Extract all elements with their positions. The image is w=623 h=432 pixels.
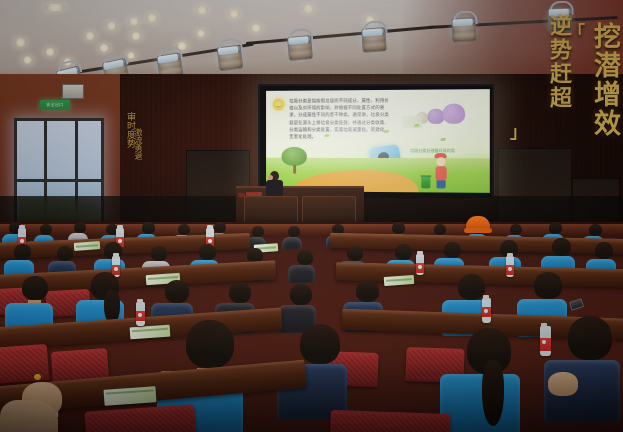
person-head bbox=[288, 226, 300, 237]
downlight-icon bbox=[250, 24, 262, 32]
projection-screen: 垃圾分类是指按照垃圾的不同成分、属性、利用价值以及对环境的影响，并根据不同处置方… bbox=[258, 84, 494, 198]
downlight-icon bbox=[130, 32, 142, 40]
pamphlet-stripe bbox=[132, 328, 168, 333]
downlight-icon bbox=[14, 38, 27, 47]
person-head bbox=[458, 274, 485, 300]
green-bin-icon bbox=[421, 177, 430, 188]
stage-spotlight-icon bbox=[451, 17, 476, 42]
person-head bbox=[229, 282, 251, 303]
slide-body-text: 垃圾分类是指按照垃圾的不同成分、属性、利用价值以及对环境的影响，并根据不同处置方… bbox=[289, 97, 392, 140]
downlight-icon bbox=[302, 4, 315, 13]
bottle-cap bbox=[113, 253, 119, 257]
water-bottle[interactable] bbox=[416, 254, 424, 275]
person-head bbox=[356, 280, 379, 302]
podium-item bbox=[238, 193, 245, 197]
person-uniform-shirt bbox=[440, 374, 520, 432]
person-uniform-shirt bbox=[282, 237, 302, 250]
person-head bbox=[165, 280, 189, 303]
podium-panel bbox=[244, 196, 298, 224]
spotlight-lens bbox=[452, 19, 472, 27]
person-head bbox=[552, 238, 571, 256]
spotlight-lens bbox=[218, 46, 239, 55]
person-head bbox=[74, 222, 86, 233]
child-head bbox=[436, 157, 445, 166]
person-head bbox=[347, 246, 363, 261]
child-legs bbox=[436, 180, 445, 188]
child-figure-icon bbox=[434, 153, 446, 188]
audience-member bbox=[560, 316, 620, 422]
bottle-label bbox=[136, 311, 145, 321]
water-bottle[interactable] bbox=[540, 326, 551, 356]
tree-crown bbox=[282, 147, 307, 166]
exit-sign: 安全出口 bbox=[40, 100, 70, 110]
downlight-icon bbox=[84, 32, 96, 40]
audience-hand bbox=[548, 372, 578, 396]
left-wall-slogan-secondary: 激流勇退 bbox=[104, 104, 144, 184]
audience-desk bbox=[330, 233, 623, 254]
pamphlet-stripe bbox=[76, 244, 98, 248]
sun-icon bbox=[273, 99, 285, 111]
conference-hall-photo: 安全出口 审时度势 激流勇退 「 挖潜增效 逆势赶超 」 垃圾分类是指按照垃圾的… bbox=[0, 0, 623, 432]
wall-slogan-primary: 挖潜增效 bbox=[590, 22, 619, 138]
person-head bbox=[186, 320, 234, 368]
downlight-icon bbox=[196, 30, 206, 37]
tree-icon bbox=[282, 147, 307, 174]
leaf-icon bbox=[414, 124, 419, 127]
stage-spotlight-icon bbox=[217, 45, 244, 72]
person-head bbox=[589, 224, 602, 236]
ponytail bbox=[482, 360, 504, 426]
trash-bag-icon bbox=[443, 103, 466, 123]
downlight-icon bbox=[106, 22, 117, 30]
water-bottle[interactable] bbox=[506, 256, 514, 277]
tree-trunk bbox=[293, 165, 296, 174]
downlight-icon bbox=[196, 6, 208, 14]
bottle-cap bbox=[137, 299, 143, 303]
person-head bbox=[252, 226, 264, 237]
downlight-icon bbox=[126, 52, 136, 59]
pamphlet-stripe bbox=[106, 389, 154, 394]
wall-slogan-secondary: 逆势赶超 bbox=[547, 14, 571, 110]
safety-helmet[interactable] bbox=[466, 216, 490, 231]
left-wall-slogan-line2: 激流勇退 bbox=[133, 128, 144, 160]
stage-spotlight-icon bbox=[287, 35, 313, 61]
mobile-phone[interactable] bbox=[569, 298, 584, 311]
person-head bbox=[142, 222, 155, 234]
bottle-cap bbox=[207, 225, 213, 229]
audience-seating-area bbox=[0, 222, 623, 432]
person-head bbox=[151, 246, 167, 261]
downlight-icon bbox=[44, 4, 66, 11]
downlight-icon bbox=[128, 18, 140, 25]
leaf-icon bbox=[324, 134, 329, 137]
bottle-cap bbox=[541, 323, 547, 327]
person-head bbox=[568, 316, 612, 360]
person-head bbox=[392, 222, 405, 234]
audience-member bbox=[458, 328, 520, 432]
spotlight-lens bbox=[157, 54, 178, 64]
snack-item[interactable] bbox=[34, 374, 41, 380]
auditorium-seat[interactable] bbox=[0, 344, 49, 384]
person-head bbox=[178, 224, 190, 235]
auditorium-seat[interactable] bbox=[84, 404, 197, 432]
person-head bbox=[290, 284, 312, 305]
presenter-body bbox=[266, 180, 283, 196]
recyclable-bottles-icon bbox=[402, 116, 422, 128]
person-head bbox=[214, 222, 226, 233]
bottle-cap bbox=[417, 251, 423, 255]
window-mullion-horizontal bbox=[17, 179, 101, 182]
spotlight-lens bbox=[288, 36, 309, 45]
stage-spotlight-icon bbox=[361, 27, 387, 53]
presenter bbox=[266, 171, 283, 196]
bottle-cap bbox=[19, 225, 25, 229]
person-head bbox=[444, 242, 461, 258]
leaf-icon bbox=[384, 130, 389, 133]
bottle-label bbox=[540, 338, 551, 351]
person-head bbox=[549, 222, 562, 234]
bottle-cap bbox=[507, 253, 513, 257]
bottle-label bbox=[482, 307, 491, 317]
bottle-cap bbox=[483, 295, 489, 299]
person-head bbox=[595, 242, 613, 259]
water-bottle[interactable] bbox=[482, 298, 491, 323]
audience-forearm bbox=[0, 400, 58, 432]
handout-pamphlet[interactable] bbox=[104, 386, 157, 406]
bottle-label bbox=[416, 263, 424, 273]
person-uniform-shirt bbox=[288, 265, 315, 283]
downlight-icon bbox=[22, 56, 33, 64]
water-bottle[interactable] bbox=[136, 302, 145, 326]
person-head bbox=[40, 224, 52, 235]
podium-panel bbox=[302, 196, 356, 224]
audience-member bbox=[286, 226, 302, 250]
bottle-cap bbox=[117, 225, 123, 229]
person-head bbox=[14, 244, 31, 260]
wall-control-panel[interactable] bbox=[62, 84, 84, 99]
downlight-icon bbox=[98, 44, 110, 52]
slogan-close-bracket: 」 bbox=[510, 118, 527, 143]
audience-member bbox=[294, 250, 315, 283]
downlight-icon bbox=[228, 10, 240, 18]
person-head bbox=[300, 324, 340, 364]
downlight-icon bbox=[146, 14, 158, 22]
person-head bbox=[57, 246, 73, 261]
auditorium-seat[interactable] bbox=[329, 410, 451, 432]
podium-item bbox=[246, 192, 262, 196]
spotlight-lens bbox=[362, 28, 382, 36]
presenter-face bbox=[268, 175, 273, 180]
desk-surface bbox=[336, 262, 623, 273]
person-head bbox=[395, 244, 412, 260]
person-head bbox=[199, 244, 216, 260]
bottle-label bbox=[506, 265, 514, 275]
person-head bbox=[510, 224, 522, 235]
seating-row-band bbox=[0, 224, 623, 236]
person-head bbox=[297, 250, 313, 265]
person-head bbox=[434, 224, 446, 235]
handout-pamphlet[interactable] bbox=[384, 275, 415, 286]
person-head bbox=[534, 272, 562, 299]
leaf-icon bbox=[441, 138, 446, 141]
person-head bbox=[22, 276, 48, 300]
downlight-icon bbox=[44, 48, 56, 56]
child-torso bbox=[435, 166, 446, 180]
presentation-slide: 垃圾分类是指按照垃圾的不同成分、属性、利用价值以及对环境的影响，并根据不同处置方… bbox=[266, 89, 490, 193]
pamphlet-stripe bbox=[386, 278, 412, 282]
